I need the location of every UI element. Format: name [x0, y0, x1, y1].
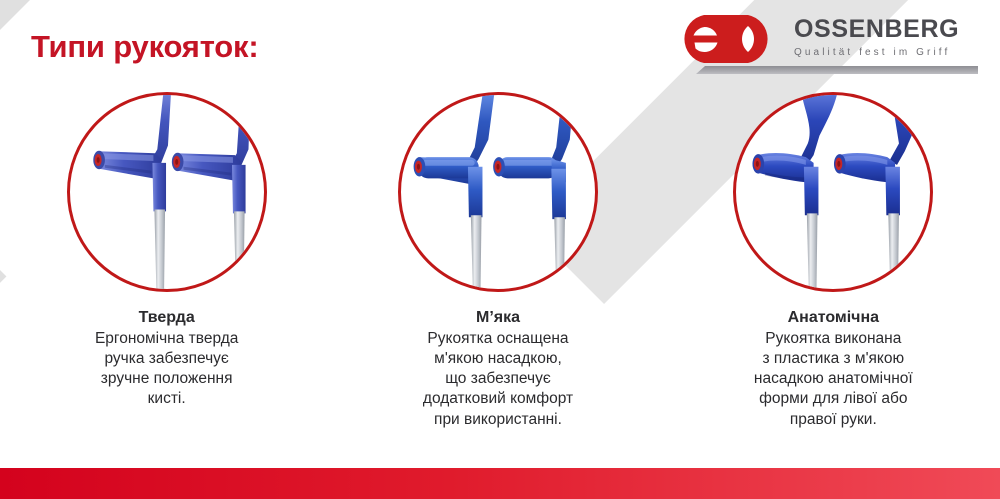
- eo-monogram-icon: [678, 14, 786, 64]
- caption-soft: М’яка Рукоятка оснащена м'якою насадкою,…: [423, 308, 573, 430]
- feature-columns: Тверда Ергономічна тверда ручка забезпеч…: [0, 92, 1000, 430]
- brand-name: OSSENBERG: [794, 17, 976, 42]
- caption-hard: Тверда Ергономічна тверда ручка забезпеч…: [95, 308, 238, 410]
- feature-heading: М’яка: [423, 308, 573, 328]
- caption-anatomic: Анатомічна Рукоятка виконана з пластика …: [754, 308, 913, 430]
- feature-description: Ергономічна тверда ручка забезпечує зруч…: [95, 329, 238, 410]
- illustration-circle-soft: [398, 92, 598, 292]
- feature-description: Рукоятка виконана з пластика з м'якою на…: [754, 329, 913, 430]
- ossenberg-logo: OSSENBERG Qualität fest im Griff: [678, 14, 978, 76]
- page-title: Типи рукояток:: [31, 29, 258, 65]
- illustration-circle-hard: [67, 92, 267, 292]
- feature-heading: Анатомічна: [754, 308, 913, 328]
- illustration-circle-anatomic: [733, 92, 933, 292]
- poster-canvas: Типи рукояток: OSSENBERG Qualität fest i…: [0, 0, 1000, 499]
- feature-card-hard: Тверда Ергономічна тверда ручка забезпеч…: [0, 92, 333, 430]
- logo-underline-bar: [696, 66, 978, 74]
- feature-heading: Тверда: [95, 308, 238, 328]
- feature-card-anatomic: Анатомічна Рукоятка виконана з пластика …: [667, 92, 1000, 430]
- bottom-accent-bar: [0, 468, 1000, 499]
- brand-tagline: Qualität fest im Griff: [794, 47, 976, 58]
- feature-description: Рукоятка оснащена м'якою насадкою, що за…: [423, 329, 573, 430]
- logo-wordmark: OSSENBERG Qualität fest im Griff: [794, 17, 976, 58]
- feature-card-soft: М’яка Рукоятка оснащена м'якою насадкою,…: [331, 92, 664, 430]
